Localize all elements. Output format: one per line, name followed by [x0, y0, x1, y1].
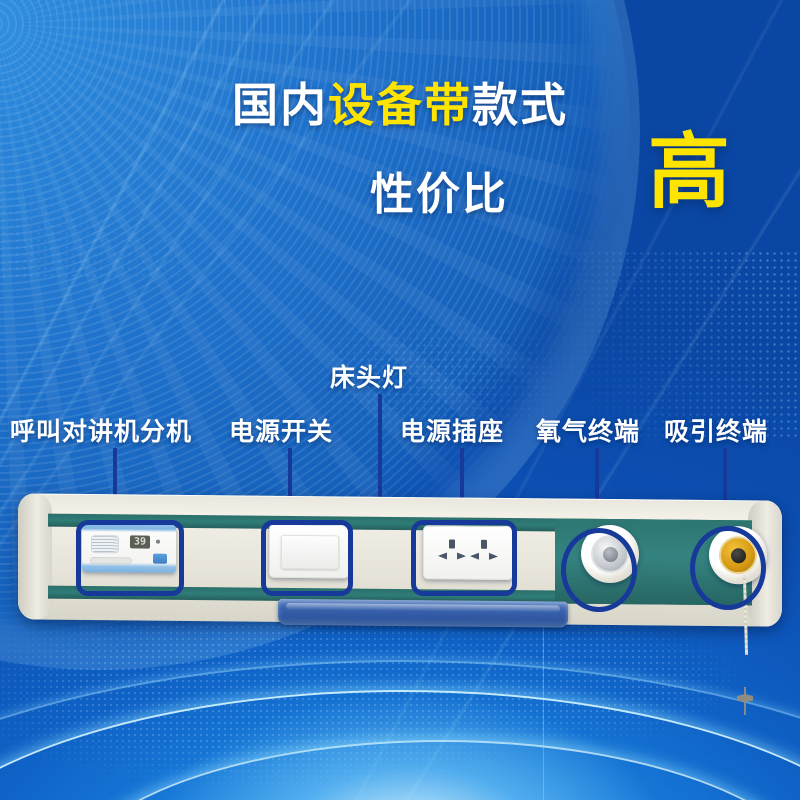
callout-label-bed-lamp: 床头灯 — [330, 358, 408, 394]
headline-line-1: 国内设备带款式 — [0, 82, 800, 128]
background-vertical-line — [543, 620, 544, 800]
highlight-outline-oxygen — [561, 528, 637, 612]
highlight-outline-intercom — [76, 520, 184, 596]
highlight-outline-suction — [690, 526, 766, 610]
callout-label-intercom: 呼叫对讲机分机 — [10, 412, 192, 448]
bottom-glow — [150, 690, 670, 800]
callout-label-power-socket: 电源插座 — [400, 412, 504, 448]
highlight-outline-power-socket — [411, 520, 517, 596]
headline-seg-2: 设备带 — [328, 78, 472, 132]
lamp-highlight — [286, 603, 560, 613]
headline-value-text: 性价比 — [370, 158, 508, 222]
panel-end-cap-left — [18, 493, 52, 619]
callout-label-power-switch: 电源开关 — [229, 412, 333, 448]
callout-label-suction: 吸引终端 — [664, 412, 768, 448]
headline-seg-1: 国内 — [232, 78, 328, 132]
highlight-outline-power-switch — [261, 520, 353, 596]
headline-emphasis-char: 高 — [648, 132, 730, 214]
bed-head-lamp-diffuser[interactable] — [278, 599, 568, 628]
headline-seg-3: 款式 — [472, 78, 568, 132]
promo-banner: 国内设备带款式 性价比 高 呼叫对讲机分机 电源开关 床头灯 电源插座 氧气终端… — [0, 0, 800, 800]
headline-block: 国内设备带款式 性价比 高 — [0, 82, 800, 128]
halftone-dots-left — [0, 160, 180, 280]
callout-label-oxygen: 氧气终端 — [536, 412, 640, 448]
